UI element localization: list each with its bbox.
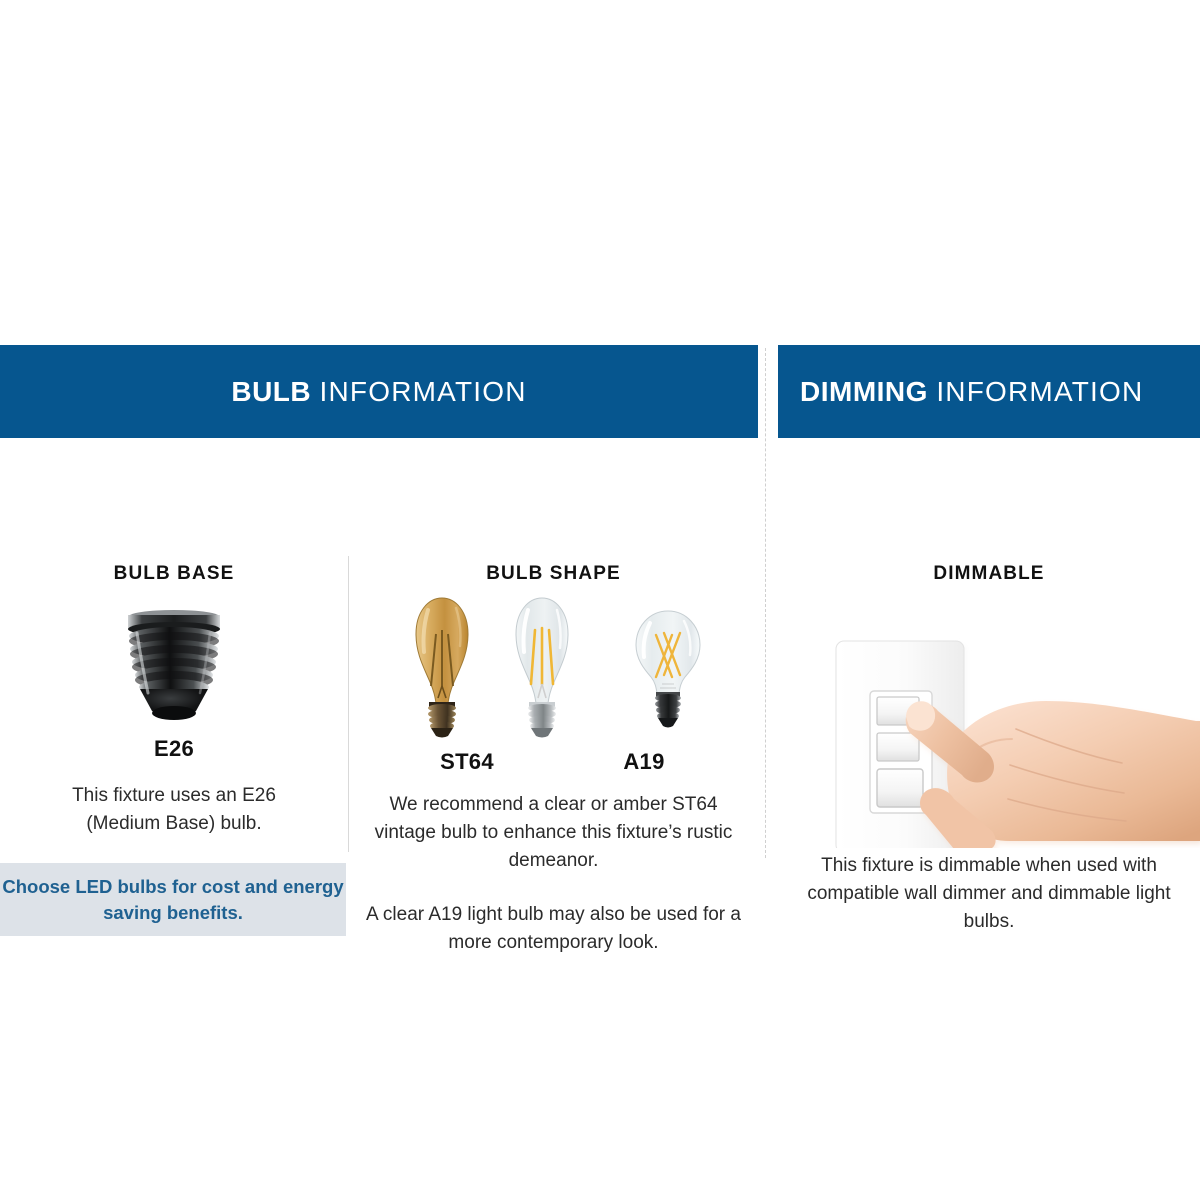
amber-st64-bulb-icon <box>398 590 486 745</box>
bulb-shape-description-1: We recommend a clear or amber ST64 vinta… <box>349 791 758 875</box>
bulb-information-panel: BULB INFORMATION BULB BASE <box>0 345 758 958</box>
bulb-base-spec-label: E26 <box>0 736 348 762</box>
bulb-shape-column: BULB SHAPE <box>349 438 758 957</box>
bulb-shape-description-2: A clear A19 light bulb may also be used … <box>349 901 758 957</box>
banner-bold-word: BULB <box>231 376 311 407</box>
bulb-information-banner: BULB INFORMATION <box>0 345 758 438</box>
dimming-information-panel: DIMMING INFORMATION DIMMABLE <box>778 345 1200 1083</box>
dimming-information-banner: DIMMING INFORMATION <box>778 345 1200 438</box>
bulb-shape-labels: ST64 A19 <box>349 749 758 779</box>
panel-dashed-divider <box>765 348 766 858</box>
bulb-shape-label-st64: ST64 <box>407 749 527 775</box>
bulb-shape-heading: BULB SHAPE <box>349 563 758 585</box>
wall-dimmer-switch-with-hand-icon <box>778 593 1200 848</box>
infographic-stage: BULB INFORMATION BULB BASE <box>0 0 1200 1200</box>
dimming-information-banner-title: DIMMING INFORMATION <box>800 378 1143 406</box>
dimmable-heading: DIMMABLE <box>778 563 1200 585</box>
bulb-shape-illustrations <box>349 595 758 745</box>
banner-bold-word: DIMMING <box>800 376 928 407</box>
banner-regular-word: INFORMATION <box>936 376 1143 407</box>
bulb-shape-label-a19: A19 <box>584 749 704 775</box>
bulb-base-heading: BULB BASE <box>0 563 348 585</box>
clear-st64-bulb-icon <box>498 590 586 745</box>
bulb-base-column: BULB BASE <box>0 438 348 838</box>
led-callout-text: Choose LED bulbs for cost and energy sav… <box>0 874 346 926</box>
clear-a19-bulb-icon <box>626 605 710 745</box>
dimmable-description: This fixture is dimmable when used with … <box>778 852 1200 936</box>
bulb-information-banner-title: BULB INFORMATION <box>231 378 526 406</box>
led-callout-box: Choose LED bulbs for cost and energy sav… <box>0 863 346 936</box>
bulb-panel-body: BULB BASE <box>0 438 758 958</box>
dimming-panel-body: DIMMABLE <box>778 563 1200 1083</box>
e26-screw-base-icon <box>104 603 244 728</box>
banner-regular-word: INFORMATION <box>320 376 527 407</box>
bulb-base-description: This fixture uses an E26 (Medium Base) b… <box>0 782 348 838</box>
